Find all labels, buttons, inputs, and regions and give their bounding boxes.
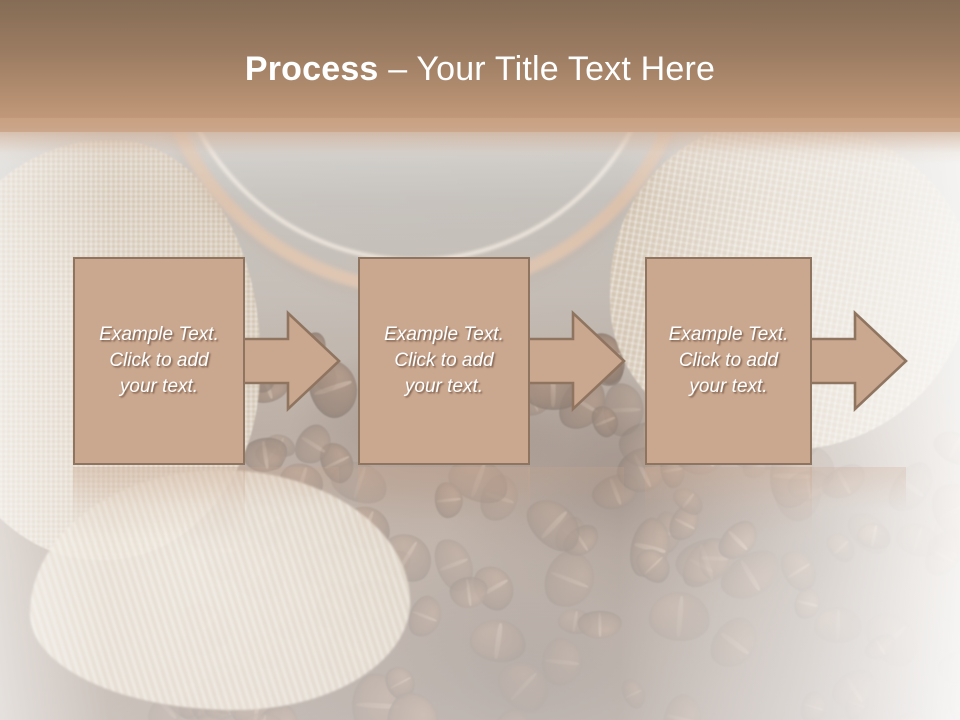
process-step-reflection [645, 467, 812, 539]
process-step-text-line: Click to add [669, 348, 789, 374]
process-step-box[interactable]: Example Text.Click to addyour text. [73, 257, 245, 465]
process-arrow-reflection [528, 467, 624, 519]
process-arrow-icon [528, 309, 626, 413]
process-arrow-icon [810, 309, 908, 413]
process-step-box[interactable]: Example Text.Click to addyour text. [358, 257, 530, 465]
process-step[interactable]: Example Text.Click to addyour text. [73, 257, 245, 465]
process-step-text: Example Text.Click to addyour text. [374, 322, 514, 400]
process-step[interactable]: Example Text.Click to addyour text. [645, 257, 812, 465]
page-title-strong: Process [245, 50, 379, 88]
process-step-text-line: Example Text. [669, 322, 789, 348]
process-step-text-line: your text. [384, 374, 504, 400]
process-step-box[interactable]: Example Text.Click to addyour text. [645, 257, 812, 465]
process-step-text-line: Click to add [384, 348, 504, 374]
process-arrow-reflection [810, 467, 906, 519]
process-step-text-line: your text. [99, 374, 219, 400]
process-step-text: Example Text.Click to addyour text. [659, 322, 799, 400]
process-arrow-reflection [243, 467, 339, 519]
process-step-text-line: Click to add [99, 348, 219, 374]
process-step-reflection [73, 467, 245, 539]
process-step-reflection [358, 467, 530, 539]
process-arrow-icon [243, 309, 341, 413]
process-step-text-line: Example Text. [384, 322, 504, 348]
process-step-text-line: your text. [669, 374, 789, 400]
slide: Process – Your Title Text Here Example T… [0, 0, 960, 720]
page-title-rest: – Your Title Text Here [379, 50, 716, 88]
page-title: Process – Your Title Text Here [0, 48, 960, 90]
process-step-text: Example Text.Click to addyour text. [89, 322, 229, 400]
process-step-text-line: Example Text. [99, 322, 219, 348]
process-step[interactable]: Example Text.Click to addyour text. [358, 257, 530, 465]
